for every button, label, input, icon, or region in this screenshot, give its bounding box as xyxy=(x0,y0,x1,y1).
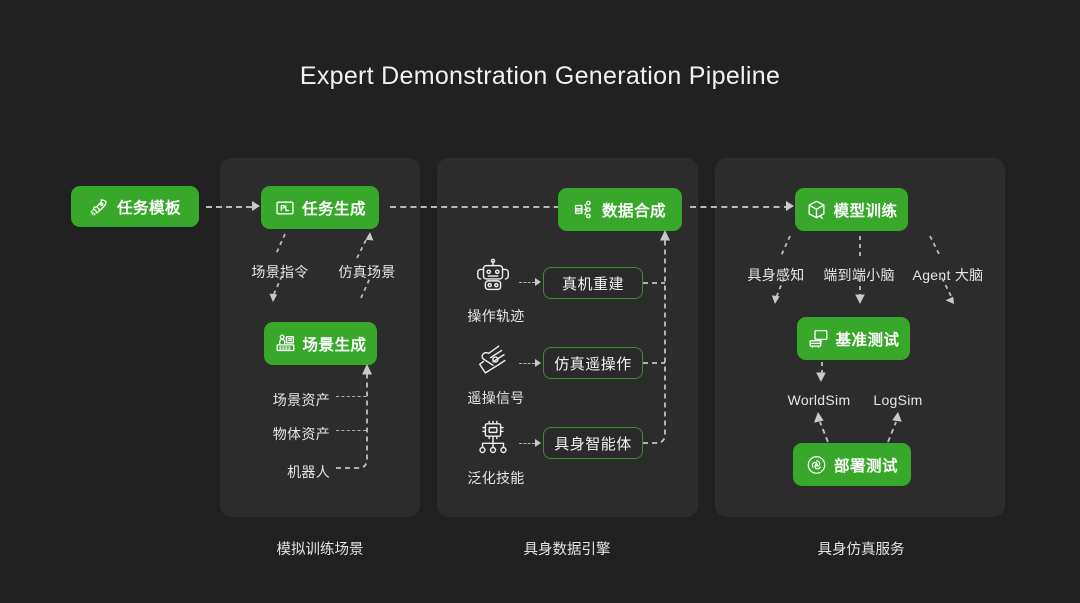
page-title: Expert Demonstration Generation Pipeline xyxy=(0,62,1080,91)
arrowhead xyxy=(535,278,541,286)
connector-deploy-to-logsim xyxy=(880,408,920,446)
connector-entry-to-task-gen xyxy=(206,206,252,208)
connector-chip-to-box xyxy=(519,443,535,444)
caption-panel-2: 具身数据引擎 xyxy=(524,538,611,559)
arrowhead xyxy=(535,439,541,447)
cube-arrow-icon xyxy=(806,199,827,220)
connector-deploy-to-worldsim xyxy=(796,408,836,446)
caption-panel-1: 模拟训练场景 xyxy=(277,538,364,559)
connector-glove-to-box xyxy=(519,363,535,364)
frame-pl-icon xyxy=(274,197,295,218)
label-logsim: LogSim xyxy=(873,392,922,408)
node-label: 部署测试 xyxy=(834,454,898,476)
node-model-training[interactable]: 模型训练 xyxy=(795,188,908,231)
connector-training-to-perception xyxy=(760,234,800,314)
swirl-circle-icon xyxy=(806,454,827,475)
diagram-canvas: Expert Demonstration Generation Pipeline… xyxy=(0,0,1080,603)
node-benchmark-test[interactable]: 基准测试 xyxy=(797,317,910,360)
glove-icon xyxy=(470,340,516,380)
node-label: 任务生成 xyxy=(302,197,366,219)
node-task-generation[interactable]: 任务生成 xyxy=(261,186,379,229)
label-robot: 机器人 xyxy=(287,462,330,482)
node-real-machine-reconstruction[interactable]: 真机重建 xyxy=(543,267,643,299)
label-teleoperation-signal: 遥操信号 xyxy=(467,388,524,408)
robot-icon xyxy=(470,258,516,298)
arrowhead xyxy=(535,359,541,367)
node-task-template[interactable]: 任务模板 xyxy=(71,186,199,227)
node-label: 数据合成 xyxy=(602,199,666,221)
node-data-synthesis[interactable]: 数据合成 xyxy=(558,188,682,231)
label-generalization-skill: 泛化技能 xyxy=(467,468,524,488)
label-scene-asset: 场景资产 xyxy=(273,390,330,410)
arrowhead xyxy=(786,201,794,211)
node-label: 场景生成 xyxy=(303,333,367,355)
network-chip-icon xyxy=(470,420,516,460)
arrowhead xyxy=(252,201,260,211)
label-object-asset: 物体资产 xyxy=(273,424,330,444)
node-simulated-teleoperation[interactable]: 仿真遥操作 xyxy=(543,347,643,379)
node-label: 任务模板 xyxy=(117,196,181,218)
connector-training-to-agent-brain xyxy=(918,234,964,314)
scene-person-icon xyxy=(275,333,296,354)
caption-panel-3: 具身仿真服务 xyxy=(818,538,905,559)
connector-training-to-cerebellum xyxy=(850,234,870,314)
connector-benchmark-to-worldsim xyxy=(806,362,836,388)
connector-robot-to-box xyxy=(519,282,535,283)
connector-task-gen-to-scene-gen xyxy=(265,232,305,312)
connector-scene-gen-to-task-gen xyxy=(345,232,391,312)
node-embodied-agent[interactable]: 具身智能体 xyxy=(543,427,643,459)
bus-assets-to-scene-gen xyxy=(330,360,380,475)
node-label: 基准测试 xyxy=(836,328,900,350)
data-merge-icon xyxy=(574,199,595,220)
bus-boxes-to-data-synthesis xyxy=(643,226,683,451)
node-label: 模型训练 xyxy=(834,199,898,221)
label-operation-trajectory: 操作轨迹 xyxy=(467,306,524,326)
benchmark-screen-icon xyxy=(808,328,829,349)
node-deployment-test[interactable]: 部署测试 xyxy=(793,443,911,486)
connector-panel2-to-panel3 xyxy=(690,206,790,208)
connector-panel1-to-panel2 xyxy=(390,206,570,208)
rocket-icon xyxy=(89,196,110,217)
label-worldsim: WorldSim xyxy=(788,392,851,408)
node-scene-generation[interactable]: 场景生成 xyxy=(264,322,377,365)
